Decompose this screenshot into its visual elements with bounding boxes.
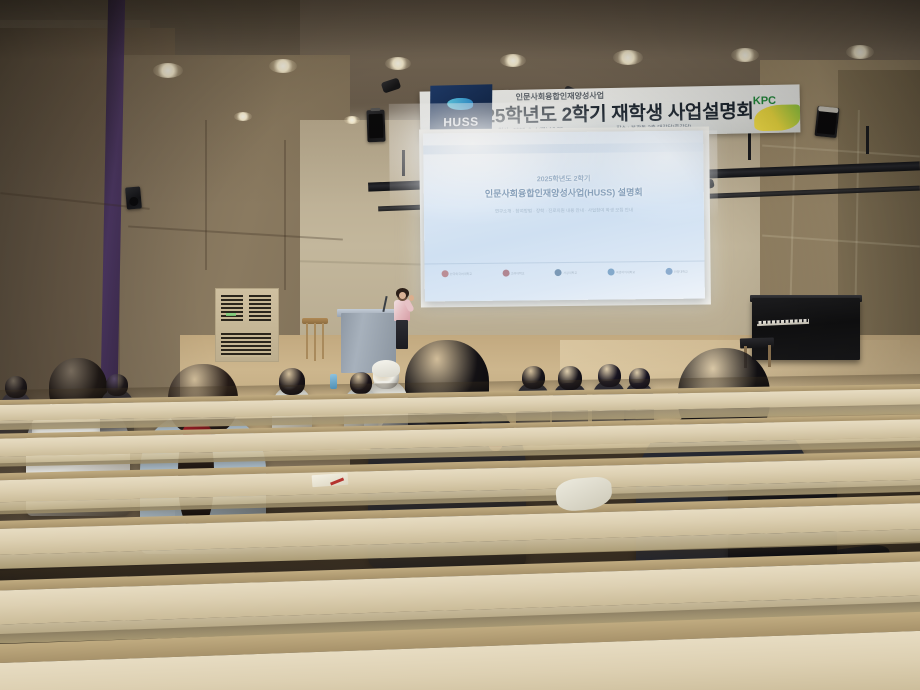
partner-logo-1-label: 한국외국어대학교: [450, 272, 472, 276]
partner-logo-2-mark-icon: [502, 270, 509, 277]
partner-logo-1: 한국외국어대학교: [441, 270, 472, 277]
ceiling-downlight-9: [344, 116, 360, 124]
vent-green-light: [226, 313, 236, 316]
projector-screen: 2025학년도 2학기 인문사회융합인재양성사업(HUSS) 설명회 연구소개 …: [423, 131, 705, 302]
presenter-face: [399, 292, 406, 299]
speaker-grille-mid: [369, 114, 384, 138]
ceiling-downlight-6: [731, 48, 759, 62]
ceiling-downlight-3: [385, 57, 411, 70]
partner-logo-2: 고려대학교: [502, 270, 524, 277]
ceiling-downlight-1: [153, 63, 183, 78]
partner-logo-3-mark-icon: [555, 269, 562, 276]
speaker-cone-left: [129, 197, 139, 207]
wall-speaker-left: [125, 186, 142, 209]
truss-drop-5: [866, 126, 869, 154]
truss-drop-4: [748, 132, 751, 160]
partner-logo-4-mark-icon: [607, 269, 614, 276]
ceiling-downlight-5: [613, 50, 643, 65]
partner-logo-5: 한양대학교: [665, 268, 687, 275]
seating-area: [0, 330, 920, 690]
wall-seam-4: [284, 140, 286, 290]
partner-logo-4: 숙명여자대학교: [607, 269, 635, 276]
vent-louver-2: [249, 295, 271, 321]
wall-speaker-right: [814, 106, 839, 138]
ceiling-downlight-2: [269, 59, 297, 73]
partner-logo-5-label: 한양대학교: [674, 270, 688, 274]
lecture-hall-photo: 인문사회융합인재양성사업 2025학년도 2학기 재학생 사업설명회 일시 : …: [0, 0, 920, 690]
wall-speaker-mid: [366, 110, 385, 143]
speaker-handle-mid: [370, 108, 380, 111]
ceiling-downlight-4: [500, 54, 526, 67]
vent-louver-1: [221, 295, 243, 321]
water-bottle: [330, 374, 337, 389]
partner-logo-3-label: 서강대학교: [563, 271, 577, 275]
partner-logo-1-mark-icon: [441, 271, 448, 278]
partner-logo-5-mark-icon: [665, 268, 672, 275]
slide-partner-logos: 한국외국어대학교고려대학교서강대학교숙명여자대학교한양대학교: [441, 265, 688, 282]
kpc-logo-text: KPC: [753, 95, 776, 107]
kpc-logo: KPC: [750, 90, 801, 131]
partner-logo-3: 서강대학교: [555, 269, 577, 276]
partner-logo-4-label: 숙명여자대학교: [616, 270, 635, 274]
ceiling-downlight-7: [846, 45, 874, 59]
ceiling-downlight-8: [234, 112, 252, 121]
partner-logo-2-label: 고려대학교: [511, 271, 525, 275]
presenter-hand: [409, 295, 414, 301]
kpc-leaf-icon: [754, 104, 800, 131]
speaker-grille-right: [817, 111, 837, 135]
